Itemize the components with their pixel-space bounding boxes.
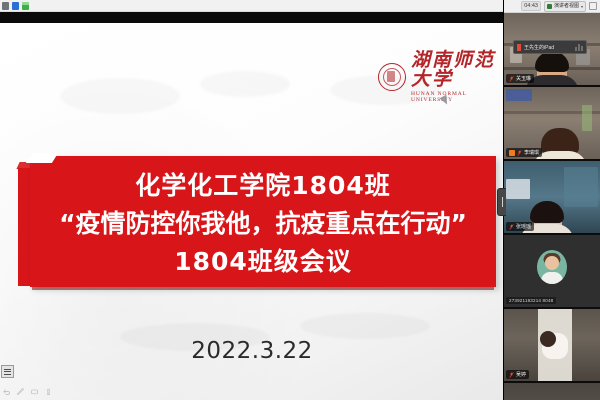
app-icon-grey xyxy=(2,2,9,10)
participant-nametag: 关玉琳 xyxy=(506,74,534,83)
host-badge xyxy=(509,150,515,156)
view-mode-selector[interactable]: 演讲者视图 ▾ xyxy=(544,1,586,12)
mic-muted-icon xyxy=(517,150,522,156)
participant-tile[interactable]: 273921183214 8048 xyxy=(504,235,600,309)
meeting-toolbar[interactable]: 04:43 演讲者视图 ▾ xyxy=(504,0,600,13)
participant-rail[interactable]: 04:43 演讲者视图 ▾ xyxy=(503,0,600,400)
background-texture xyxy=(60,78,180,114)
participant-name: 吴婷 xyxy=(516,371,526,378)
participant-name: 张瑶瑶 xyxy=(516,223,531,230)
shared-screen-stage[interactable]: 湖南师范大学 HUNAN NORMAL UNIVERSITY 化学化工学院180… xyxy=(0,23,504,400)
banner-line-2: “疫情防控你我他，抗疫重点在行动” xyxy=(59,204,467,240)
banner-shadow-line xyxy=(32,287,494,290)
banner-line-1: 化学化工学院1804班 xyxy=(135,166,391,202)
avatar xyxy=(537,250,567,284)
menu-icon[interactable] xyxy=(1,365,14,378)
title-banner: 化学化工学院1804班 “疫情防控你我他，抗疫重点在行动” 1804班级会议 xyxy=(30,156,496,287)
annotation-toolbar[interactable] xyxy=(2,387,53,396)
participant-nametag: 张瑶瑶 xyxy=(506,222,534,231)
participant-nametag: 吴婷 xyxy=(506,370,529,379)
university-name-cn: 湖南师范大学 xyxy=(411,51,504,89)
mic-muted-icon xyxy=(517,44,521,51)
black-divider-bar xyxy=(0,12,504,23)
signal-icon-green xyxy=(22,2,29,10)
view-mode-label: 演讲者视图 xyxy=(554,2,579,11)
participant-name: 273921183214 8048 xyxy=(506,297,556,304)
status-bar xyxy=(0,0,504,12)
chevron-down-icon: ▾ xyxy=(581,2,583,11)
undo-icon[interactable] xyxy=(2,387,11,396)
mic-muted-icon xyxy=(509,372,514,378)
participant-tile[interactable]: 李瑞琪 xyxy=(504,87,600,161)
participant-name: 李瑞琪 xyxy=(524,149,539,156)
mic-muted-icon xyxy=(509,224,514,230)
participant-nametag: 李瑞琪 xyxy=(506,148,542,157)
meeting-timer: 04:43 xyxy=(521,1,541,11)
participant-tiles[interactable]: 王先生的iPad 关玉琳 xyxy=(504,13,600,400)
app-icon-blue xyxy=(12,2,19,10)
presentation-slide: 湖南师范大学 HUNAN NORMAL UNIVERSITY 化学化工学院180… xyxy=(0,23,504,400)
banner-line-3: 1804班级会议 xyxy=(174,242,352,278)
university-seal-icon xyxy=(378,63,406,91)
video-feed xyxy=(504,383,600,400)
mic-muted-icon xyxy=(509,76,514,82)
participant-tile[interactable] xyxy=(504,383,600,400)
pen-icon[interactable] xyxy=(16,387,25,396)
meeting-window: 标注工具 湖南师范大学 HUNAN NORMAL UNIVERSITY 化学化工… xyxy=(0,0,600,400)
background-texture xyxy=(300,313,430,339)
eraser-icon[interactable] xyxy=(30,387,39,396)
participant-tile[interactable]: 吴婷 xyxy=(504,309,600,383)
floating-nameplate-label: 王先生的iPad xyxy=(524,44,554,51)
participant-tile[interactable]: 张瑶瑶 xyxy=(504,161,600,235)
background-texture xyxy=(200,71,290,97)
audio-wave-icon xyxy=(575,44,583,51)
participant-tile[interactable]: 王先生的iPad 关玉琳 xyxy=(504,13,600,87)
stamp-icon[interactable] xyxy=(44,387,53,396)
university-logo: 湖南师范大学 HUNAN NORMAL UNIVERSITY xyxy=(378,51,504,103)
participant-name: 关玉琳 xyxy=(516,75,531,82)
view-mode-icon xyxy=(547,4,552,9)
fullscreen-icon[interactable] xyxy=(589,2,597,10)
collapse-panel-handle[interactable] xyxy=(497,188,506,216)
university-name-en: HUNAN NORMAL UNIVERSITY xyxy=(411,92,504,103)
slide-date: 2022.3.22 xyxy=(0,338,504,364)
floating-nameplate[interactable]: 王先生的iPad xyxy=(513,40,587,54)
